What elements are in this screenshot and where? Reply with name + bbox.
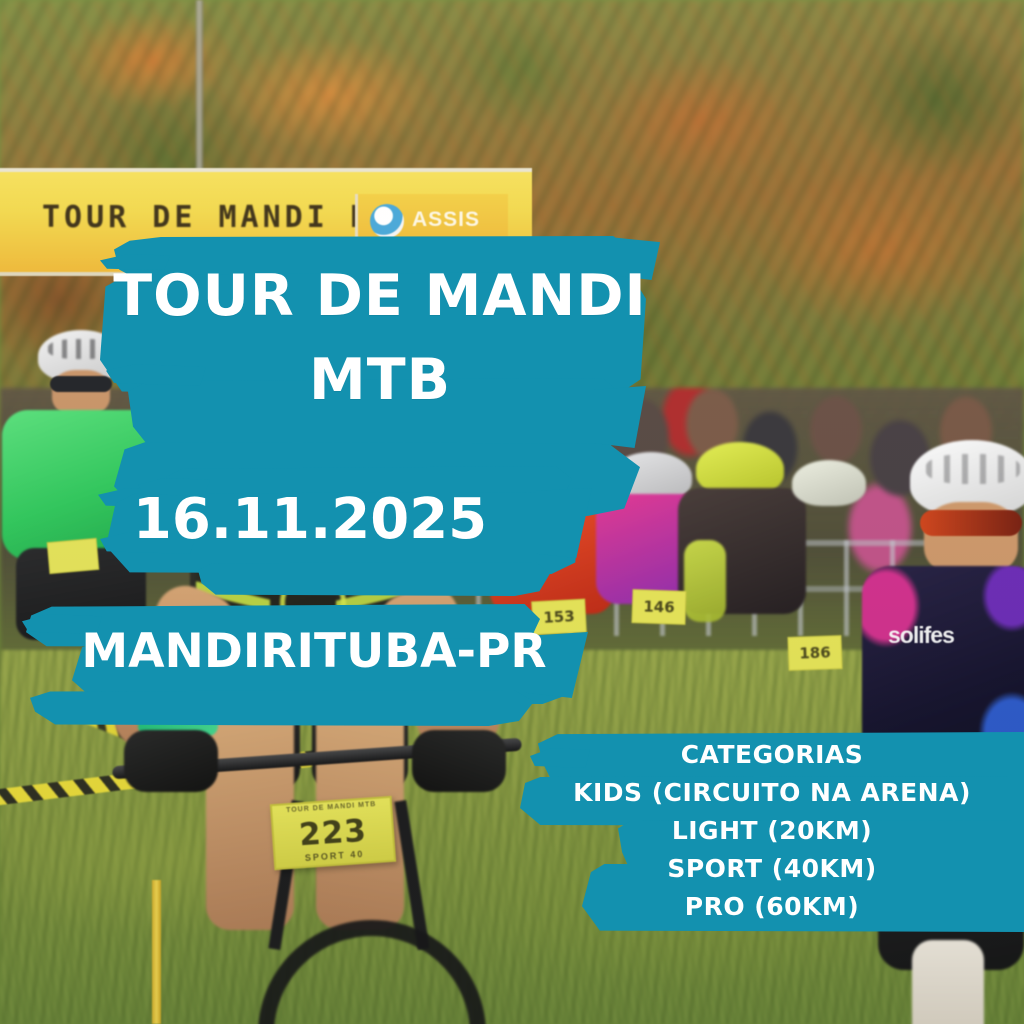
category-item-light: LIGHT (20KM)	[520, 812, 1024, 850]
categories-list: CATEGORIAS KIDS (CIRCUITO NA ARENA) LIGH…	[520, 736, 1024, 926]
brush-stroke	[30, 690, 534, 726]
event-location: MANDIRITUBA-PR	[26, 628, 602, 675]
categories-heading: CATEGORIAS	[520, 736, 1024, 774]
category-item-sport: SPORT (40KM)	[520, 850, 1024, 888]
category-item-pro: PRO (60KM)	[520, 888, 1024, 926]
category-item-kids: KIDS (CIRCUITO NA ARENA)	[520, 774, 1024, 812]
event-title-line-1: TOUR DE MANDI	[110, 268, 650, 325]
event-title-line-2: MTB	[100, 352, 660, 409]
event-poster: TOUR DE MANDI MTB ASSIS 153 146 186	[0, 0, 1024, 1024]
brush-stroke	[198, 562, 550, 596]
event-date: 16.11.2025	[30, 492, 590, 548]
